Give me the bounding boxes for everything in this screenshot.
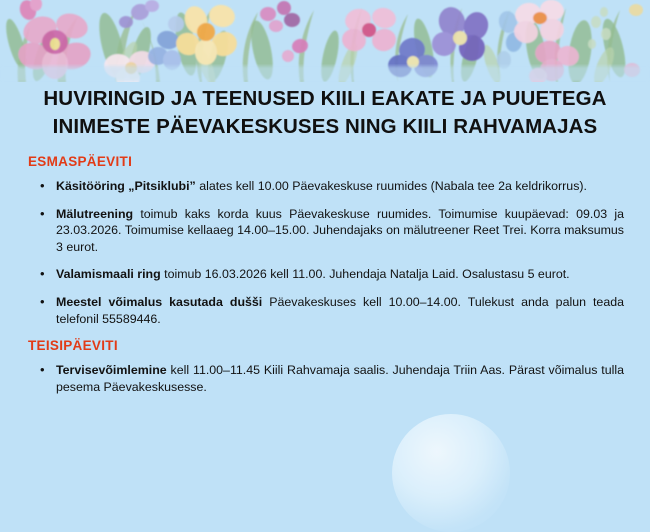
list-item: Valamismaali ring toimub 16.03.2026 kell… — [56, 266, 624, 283]
activity-details: toimub 16.03.2026 kell 11.00. Juhendaja … — [161, 267, 570, 281]
activity-name: Valamismaali ring — [56, 267, 161, 281]
activity-list-tuesday: Tervisevõimlemine kell 11.00–11.45 Kiili… — [0, 362, 650, 395]
poster-content: ESMASPÄEVITI Käsitööring „Pitsiklubi” al… — [0, 154, 650, 406]
list-item: Tervisevõimlemine kell 11.00–11.45 Kiili… — [56, 362, 624, 395]
floral-border-decoration — [0, 0, 650, 82]
activity-name: Käsitööring „Pitsiklubi” — [56, 179, 196, 193]
section-esmaspaeviti: ESMASPÄEVITI Käsitööring „Pitsiklubi” al… — [0, 154, 650, 327]
list-item: Mälutreening toimub kaks korda kuus Päev… — [56, 206, 624, 256]
activity-name: Meestel võimalus kasutada dušši — [56, 295, 262, 309]
activity-name: Mälutreening — [56, 207, 133, 221]
activity-details: alates kell 10.00 Päevakeskuse ruumides … — [196, 179, 587, 193]
watercolor-bubble-decoration — [392, 414, 510, 532]
section-teisipaeviti: TEISIPÄEVITI Tervisevõimlemine kell 11.0… — [0, 338, 650, 395]
activity-list-monday: Käsitööring „Pitsiklubi” alates kell 10.… — [0, 178, 650, 327]
activity-details: toimub kaks korda kuus Päevakeskuse ruum… — [56, 207, 624, 254]
page-title: HUVIRINGID JA TEENUSED KIILI EAKATE JA P… — [38, 85, 612, 142]
day-header-tuesday: TEISIPÄEVITI — [28, 338, 650, 353]
day-header-monday: ESMASPÄEVITI — [28, 154, 650, 169]
activity-name: Tervisevõimlemine — [56, 363, 167, 377]
list-item: Meestel võimalus kasutada dušši Päevakes… — [56, 294, 624, 327]
list-item: Käsitööring „Pitsiklubi” alates kell 10.… — [56, 178, 624, 195]
